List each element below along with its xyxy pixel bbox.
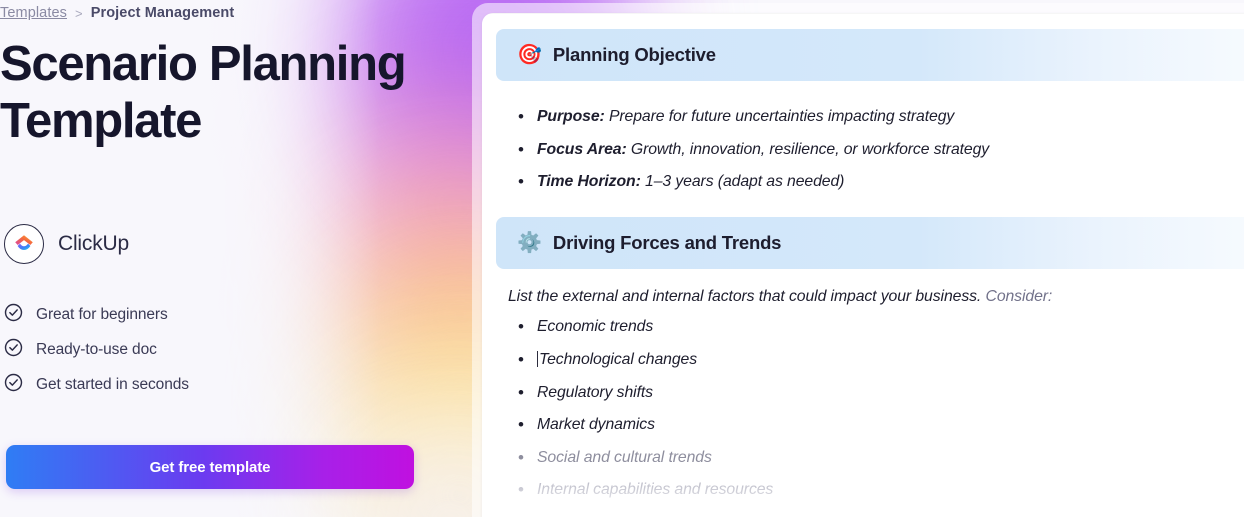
bullet-label: Time Horizon: [537, 173, 641, 190]
dart-target-icon: 🎯 [517, 45, 542, 65]
section-body-planning-objective: Purpose: Prepare for future uncertaintie… [482, 81, 1244, 193]
document-preview-frame: 🎯 Planning Objective Purpose: Prepare fo… [472, 3, 1244, 517]
bullet-text: Regulatory shifts [537, 384, 653, 401]
list-item[interactable]: Market dynamics [508, 415, 1242, 436]
get-free-template-button[interactable]: Get free template [6, 445, 414, 489]
list-item[interactable]: Economic trends [508, 317, 1242, 338]
bullet-text: Economic trends [537, 318, 653, 335]
lead-muted-text: Consider: [981, 288, 1052, 305]
section-header-planning-objective: 🎯 Planning Objective [496, 29, 1244, 81]
bullet-list: Purpose: Prepare for future uncertaintie… [508, 107, 1242, 193]
page-title: Scenario Planning Template [0, 36, 420, 150]
list-item[interactable]: Social and cultural trends [508, 448, 1242, 469]
breadcrumb: Templates > Project Management [0, 5, 234, 21]
hero-column: Templates > Project Management Scenario … [0, 0, 460, 517]
clickup-logo-icon [4, 224, 44, 264]
bullet-text: Internal capabilities and resources [537, 481, 773, 498]
bullet-text: Market dynamics [537, 416, 655, 433]
bullet-text: Growth, innovation, resilience, or workf… [627, 141, 989, 158]
list-item[interactable]: Technological changes [508, 350, 1242, 371]
template-preview-page: Templates > Project Management Scenario … [0, 0, 1244, 517]
feature-list: Great for beginners Ready-to-use doc [4, 303, 189, 397]
brand: ClickUp [4, 224, 129, 264]
bullet-text: 1–3 years (adapt as needed) [641, 173, 845, 190]
bullet-label: Focus Area: [537, 141, 627, 158]
breadcrumb-separator-icon: > [75, 6, 83, 21]
list-item: Get started in seconds [4, 373, 189, 397]
feature-label: Get started in seconds [36, 376, 189, 394]
breadcrumb-current-project-management[interactable]: Project Management [91, 5, 235, 21]
list-item[interactable]: Time Horizon: 1–3 years (adapt as needed… [508, 172, 1242, 193]
brand-name: ClickUp [58, 232, 129, 256]
bullet-text: Prepare for future uncertainties impacti… [605, 108, 955, 125]
text-cursor-caret [537, 351, 538, 367]
breadcrumb-link-templates[interactable]: Templates [0, 5, 67, 21]
section-title: Driving Forces and Trends [553, 232, 781, 254]
document-preview[interactable]: 🎯 Planning Objective Purpose: Prepare fo… [482, 13, 1244, 517]
section-lead[interactable]: List the external and internal factors t… [508, 286, 1242, 309]
list-item[interactable]: Regulatory shifts [508, 383, 1242, 404]
bullet-text: Social and cultural trends [537, 449, 712, 466]
bullet-label: Purpose: [537, 108, 605, 125]
bullet-list: Economic trends Technological changes Re… [508, 317, 1242, 500]
section-header-driving-forces: ⚙️ Driving Forces and Trends [496, 217, 1244, 269]
gear-icon: ⚙️ [517, 233, 542, 253]
check-circle-icon [4, 338, 23, 362]
list-item[interactable]: Focus Area: Growth, innovation, resilien… [508, 140, 1242, 161]
check-circle-icon [4, 373, 23, 397]
list-item[interactable]: Internal capabilities and resources [508, 480, 1242, 501]
panel-top-divider [482, 13, 1244, 14]
section-title: Planning Objective [553, 44, 716, 66]
lead-text: List the external and internal factors t… [508, 288, 981, 305]
feature-label: Great for beginners [36, 306, 168, 324]
bullet-text: Technological changes [539, 351, 697, 368]
feature-label: Ready-to-use doc [36, 341, 157, 359]
section-body-driving-forces: List the external and internal factors t… [482, 269, 1244, 501]
check-circle-icon [4, 303, 23, 327]
list-item[interactable]: Purpose: Prepare for future uncertaintie… [508, 107, 1242, 128]
list-item: Ready-to-use doc [4, 338, 189, 362]
list-item: Great for beginners [4, 303, 189, 327]
